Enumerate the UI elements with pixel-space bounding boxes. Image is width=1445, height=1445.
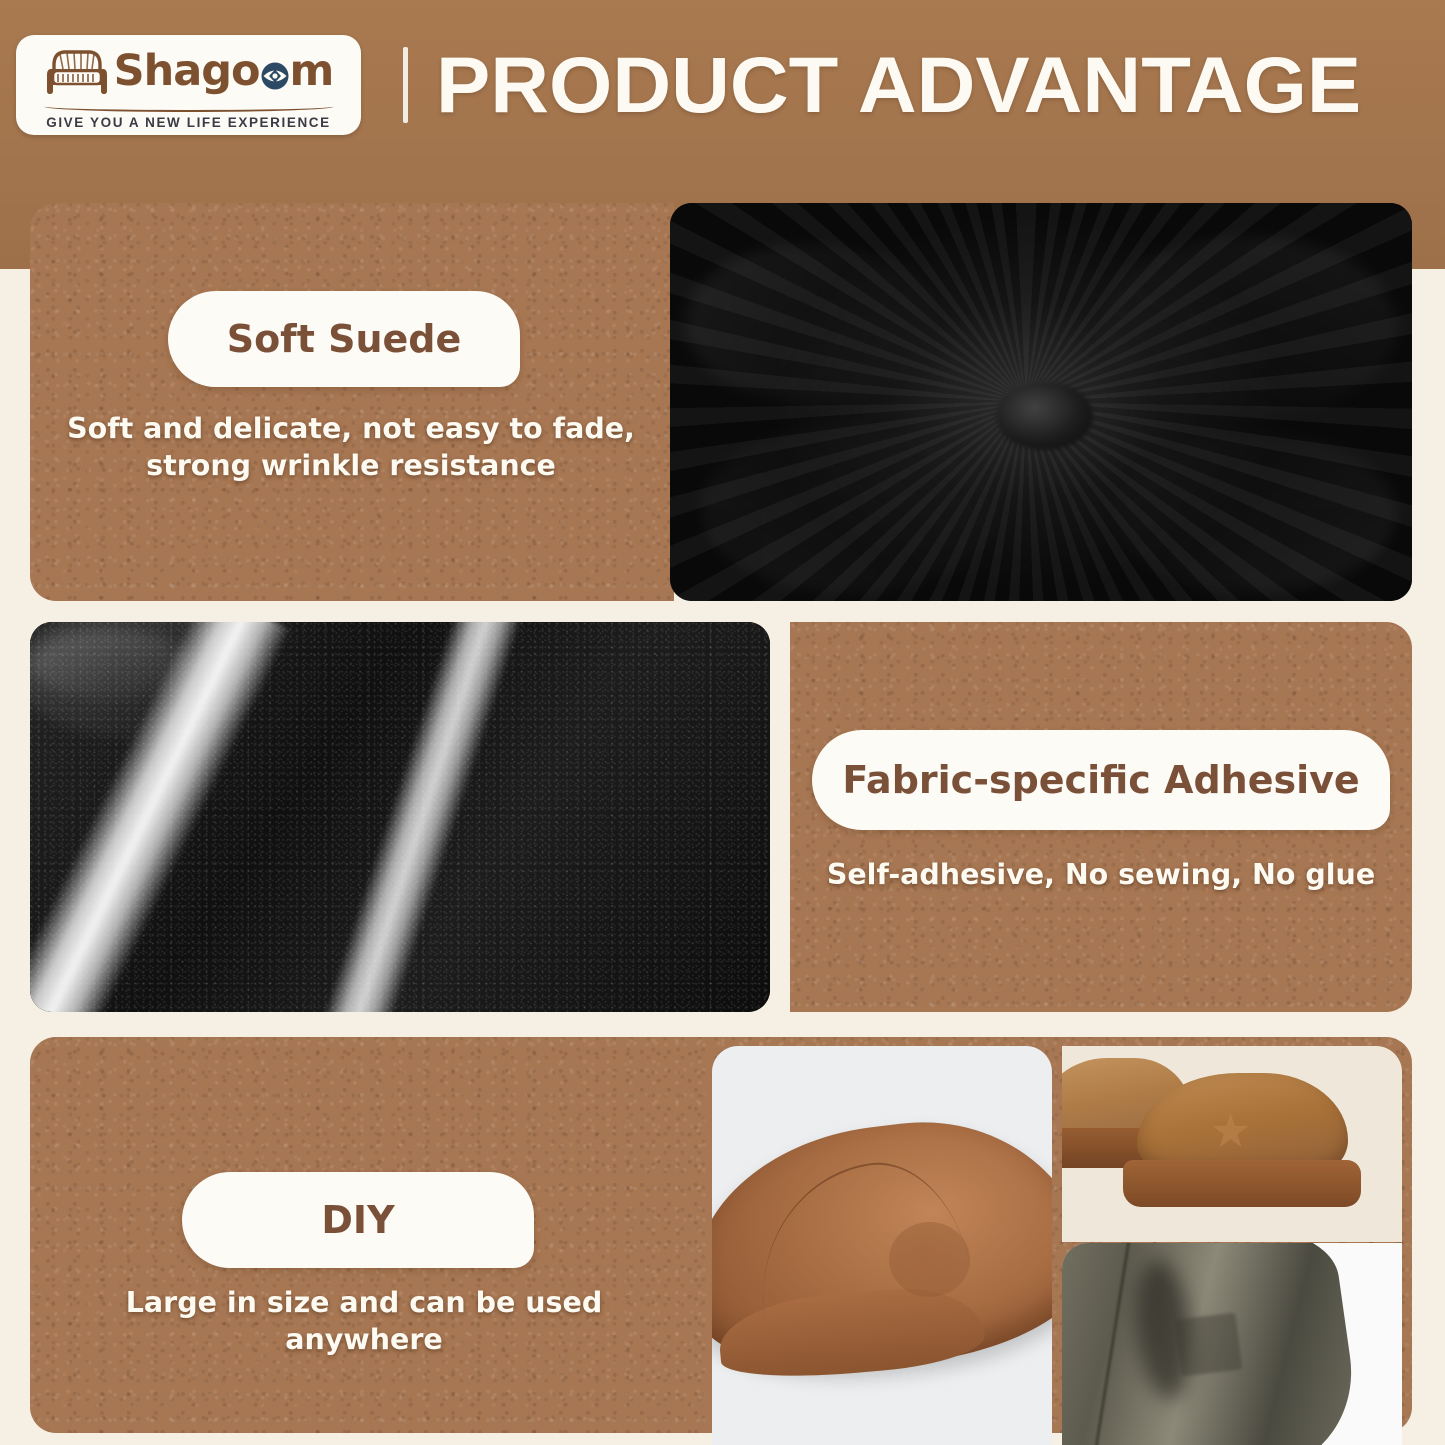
feature-2-description: Self-adhesive, No sewing, No glue [800, 856, 1402, 893]
feature-2-badge: Fabric-specific Adhesive [812, 730, 1390, 830]
feature-1-description: Soft and delicate, not easy to fade, str… [42, 410, 660, 484]
slipper-front-sole [1123, 1160, 1361, 1207]
jacket-patch [1174, 1312, 1242, 1376]
fabric-fold [685, 243, 937, 402]
logo-row: Shago m [16, 41, 361, 103]
fabric-fold [700, 426, 997, 593]
fabric-fold [1100, 235, 1397, 418]
brand-logo[interactable]: Shago m GIVE YOU A NEW LIFE EXPERIENCE [16, 35, 361, 135]
feature-1-image [670, 203, 1412, 601]
brand-wordmark: Shago m [114, 50, 334, 93]
feature-3-badge: DIY [182, 1172, 534, 1268]
brand-name-part1: Shago [114, 50, 260, 93]
feature-3-image-slippers [1062, 1046, 1402, 1242]
feature-1-badge: Soft Suede [168, 291, 520, 387]
sofa-icon [44, 47, 110, 97]
header-inner: Shago m GIVE YOU A NEW LIFE EXPERIENCE P… [0, 0, 1445, 170]
flat-cap-emblem [889, 1222, 971, 1298]
swirl-center [996, 382, 1092, 450]
brand-tagline: GIVE YOU A NEW LIFE EXPERIENCE [46, 115, 331, 130]
fabric-fold [30, 630, 193, 700]
header-divider [403, 47, 408, 123]
feature-1-text-panel [30, 203, 674, 601]
feature-3-image-cap [712, 1046, 1052, 1445]
feature-1-badge-label: Soft Suede [227, 317, 462, 361]
page-title: PRODUCT ADVANTAGE [436, 39, 1361, 131]
feature-3-badge-label: DIY [321, 1198, 394, 1242]
eye-icon [260, 61, 290, 91]
logo-swoosh-divider [44, 101, 334, 112]
feature-3-description: Large in size and can be used anywhere [44, 1284, 684, 1358]
feature-2-badge-label: Fabric-specific Adhesive [842, 758, 1359, 802]
feature-3-image-jacket [1062, 1243, 1402, 1445]
brand-name-part2: m [290, 50, 334, 93]
fabric-fold [1115, 434, 1397, 593]
feature-2-image [30, 622, 770, 1012]
